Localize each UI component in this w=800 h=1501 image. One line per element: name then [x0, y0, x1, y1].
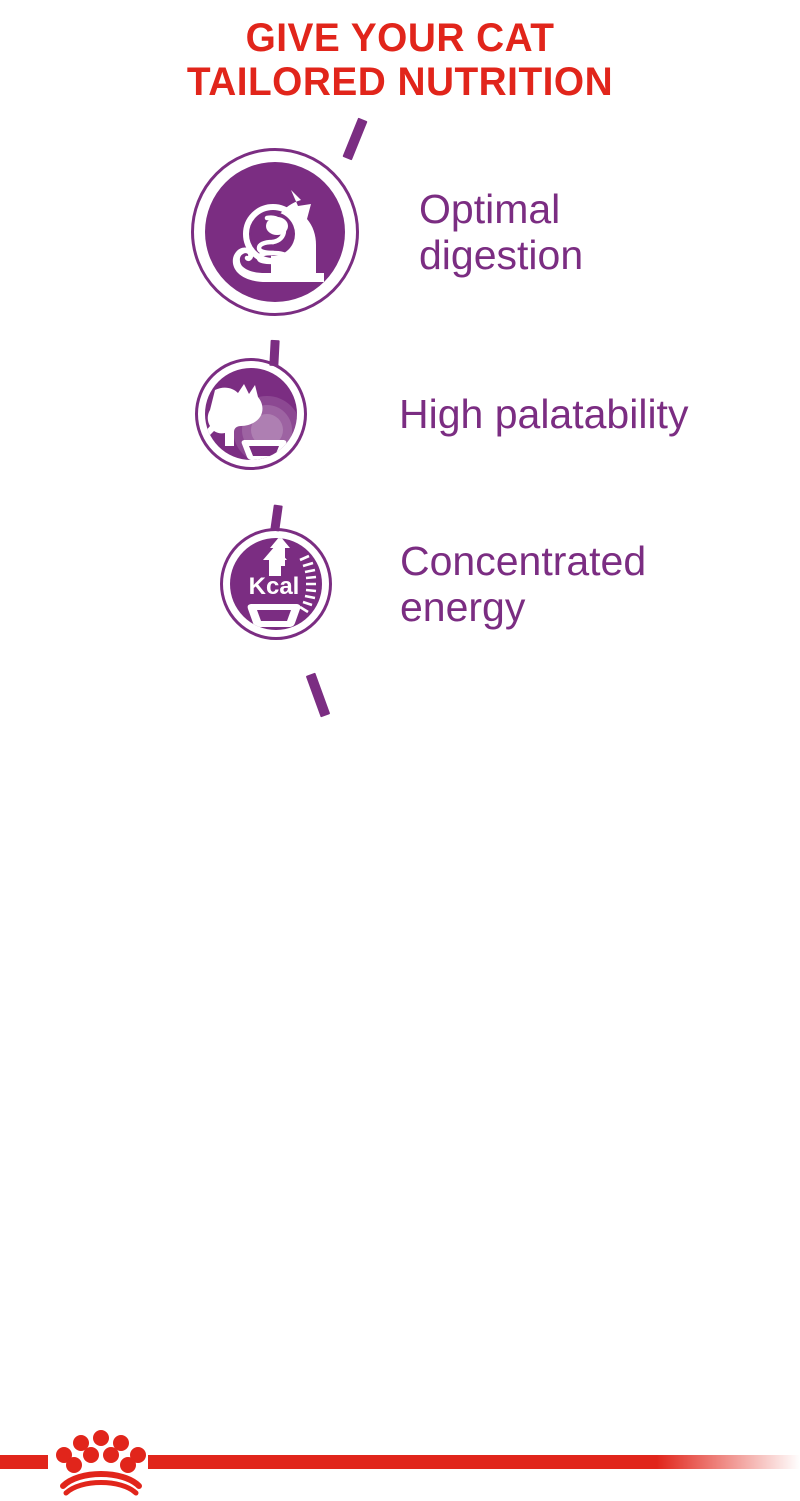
feature-label-optimal-digestion: Optimal digestion: [419, 186, 583, 278]
footer-bar-right: [148, 1455, 800, 1469]
kcal-bowl-gauge-icon: Kcal: [230, 538, 322, 630]
footer-bar-left: [0, 1455, 48, 1469]
page-title: GIVE YOUR CAT TAILORED NUTRITION: [0, 16, 800, 104]
feature-item-concentrated-energy: Kcal Concentrated energy: [230, 538, 646, 630]
kcal-icon-text: Kcal: [249, 573, 300, 600]
feature-item-high-palatability: High palatability: [205, 368, 688, 460]
connector-dash-top: [342, 118, 367, 161]
title-line-1: GIVE YOUR CAT: [12, 16, 788, 60]
title-line-2: TAILORED NUTRITION: [12, 60, 788, 104]
feature-label-high-palatability: High palatability: [399, 391, 688, 437]
feature-item-optimal-digestion: Optimal digestion: [205, 162, 583, 302]
cat-digestion-icon: [205, 162, 345, 302]
feature-label-concentrated-energy: Concentrated energy: [400, 538, 646, 630]
footer: [0, 710, 800, 800]
cat-eating-bowl-icon: [205, 368, 297, 460]
royal-canin-crown-logo: [55, 1426, 147, 1496]
